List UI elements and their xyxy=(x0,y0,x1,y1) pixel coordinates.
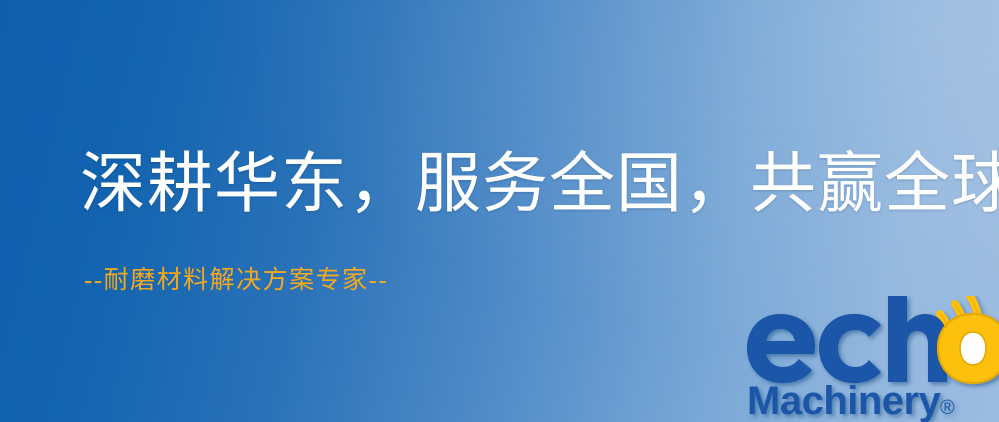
promo-banner: 深耕华东，服务全国，共赢全球 --耐磨材料解决方案专家-- xyxy=(0,0,999,422)
logo-tagline-text: Machinery xyxy=(747,379,942,422)
logo-letter-c xyxy=(819,314,881,383)
logo-registered-mark: ® xyxy=(940,397,955,419)
banner-headline: 深耕华东，服务全国，共赢全球 xyxy=(80,152,999,218)
banner-subtitle: --耐磨材料解决方案专家-- xyxy=(84,268,388,293)
logo-letter-o xyxy=(938,314,999,383)
logo-letter-e xyxy=(747,314,815,383)
echo-machinery-logo[interactable]: Machinery ® xyxy=(744,296,999,422)
